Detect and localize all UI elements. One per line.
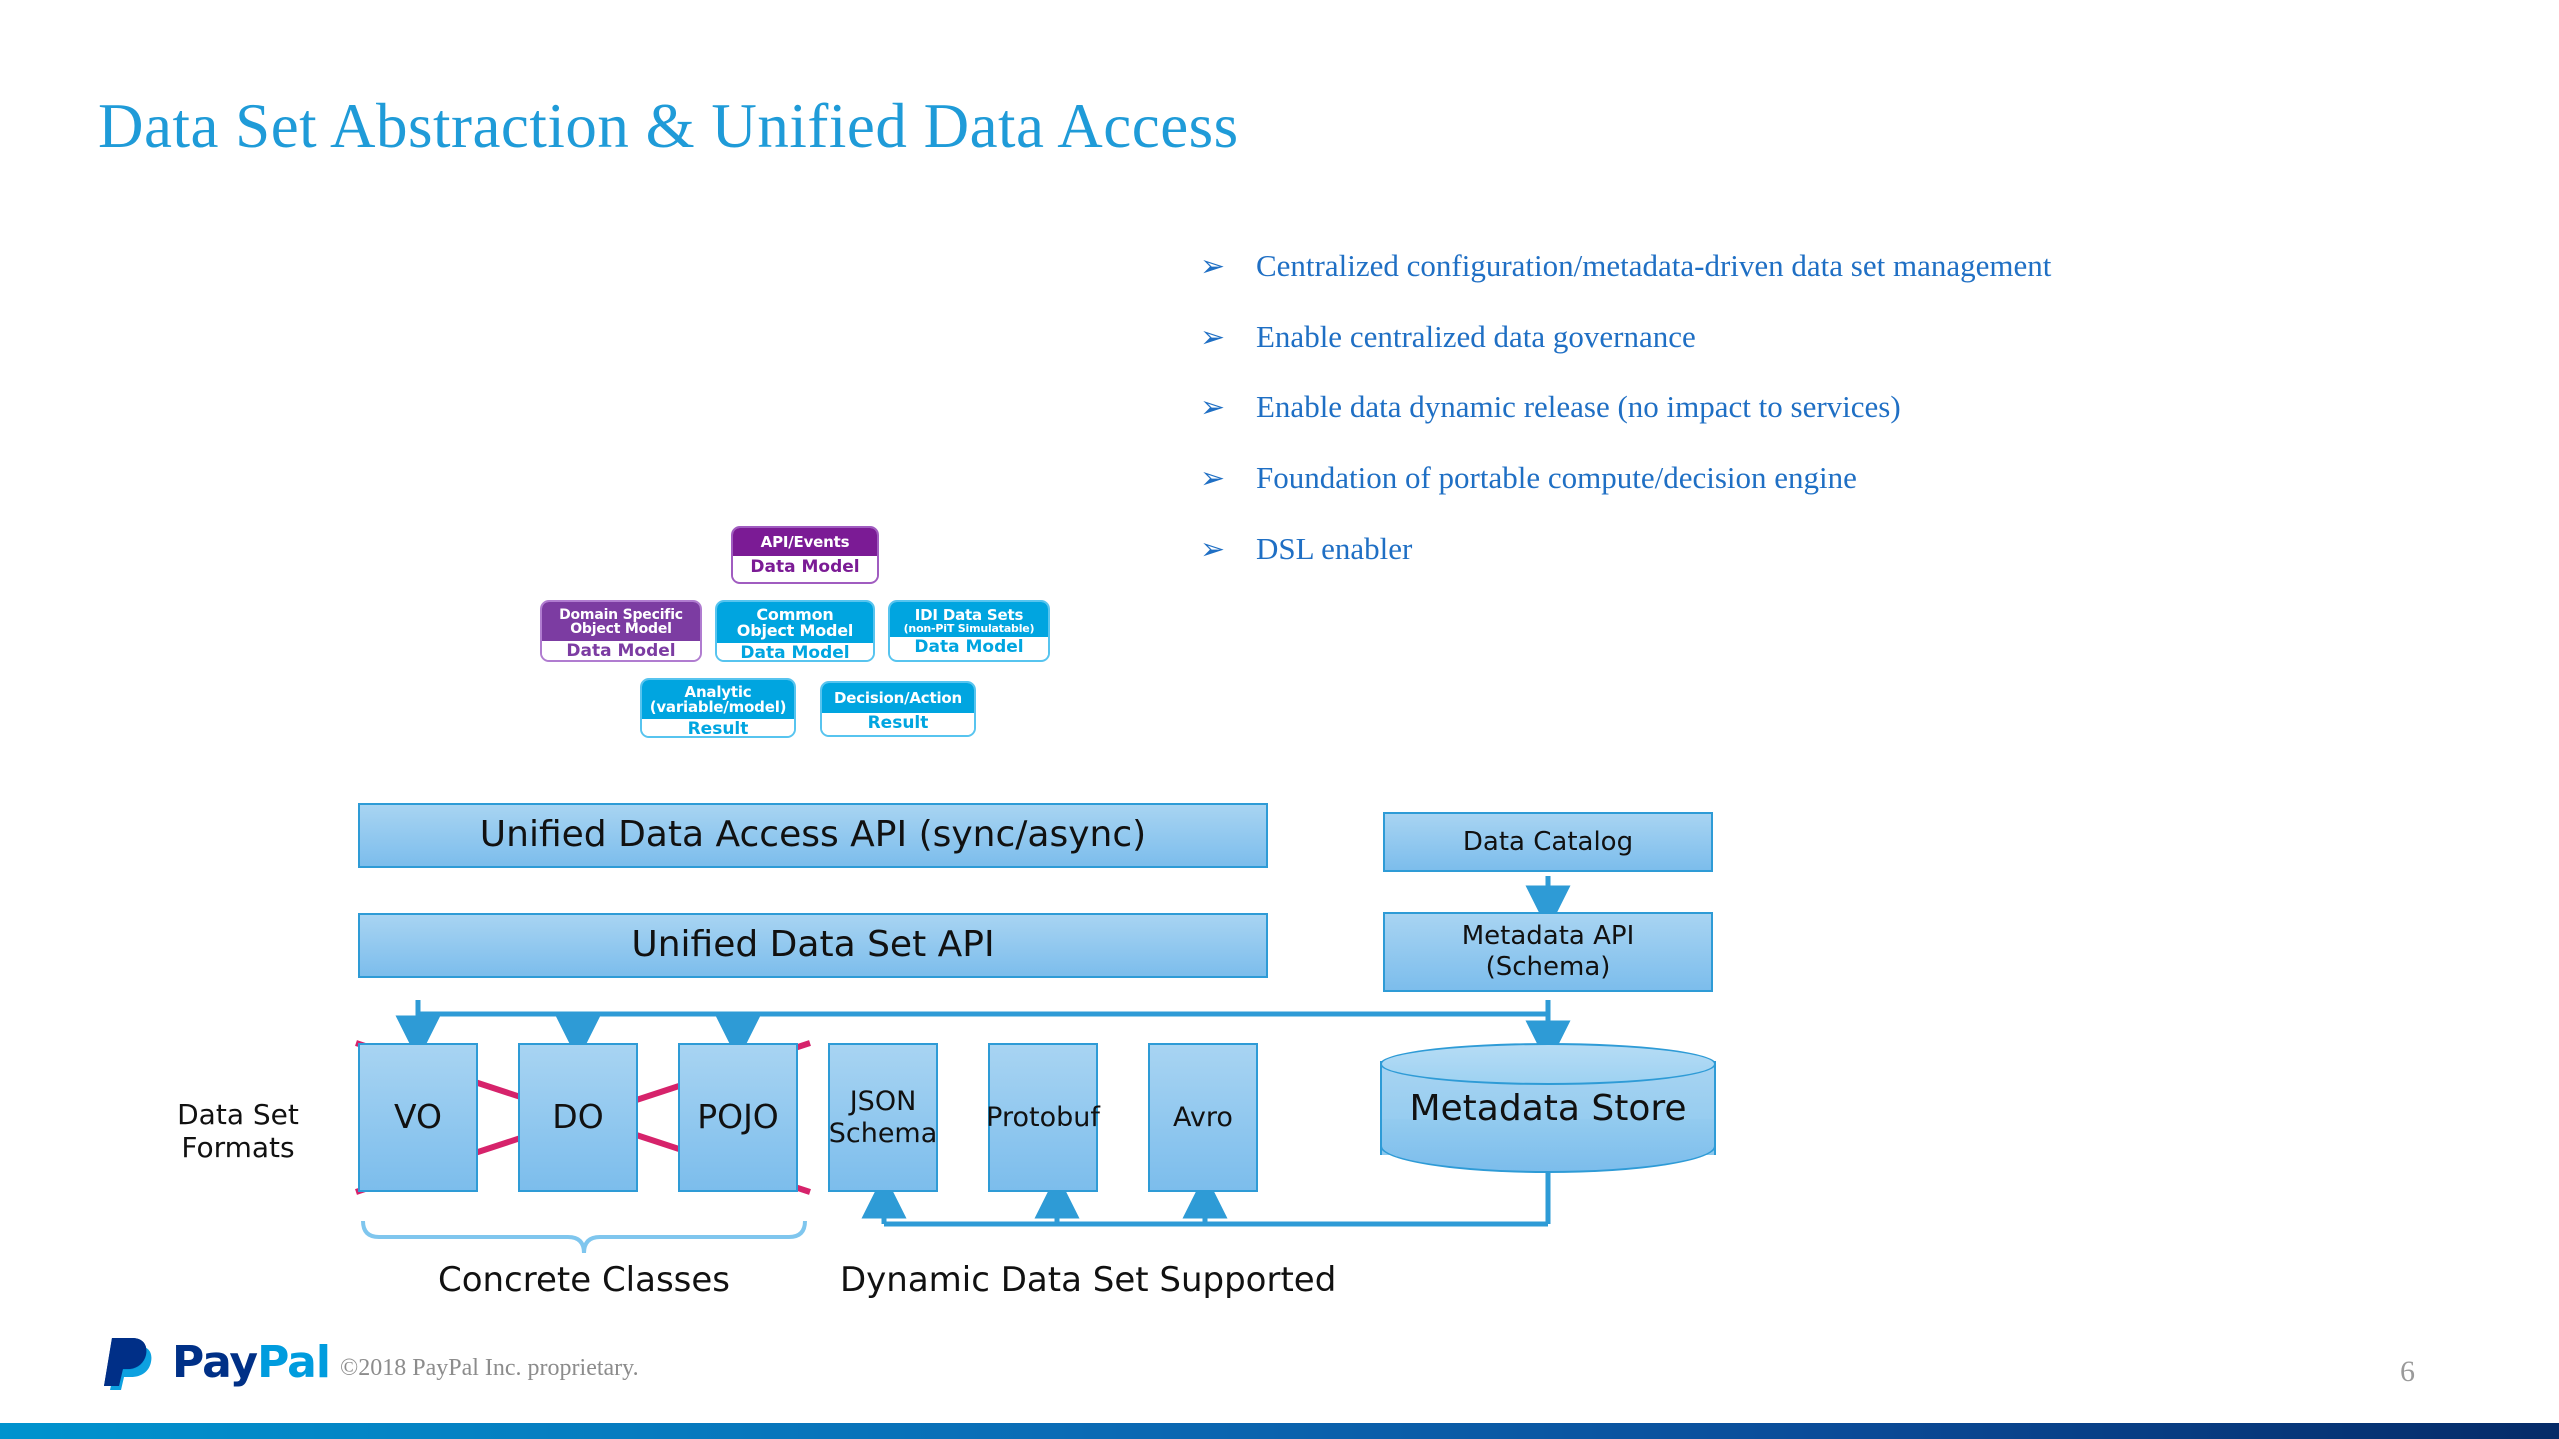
arrow-bullet-icon: ➢	[1200, 248, 1256, 282]
box-data-catalog[interactable]: Data Catalog	[1383, 812, 1713, 872]
model-box-idi-data-sets: IDI Data Sets (non-PiT Simulatable) Data…	[888, 600, 1050, 662]
box-format-avro[interactable]: Avro	[1148, 1043, 1258, 1192]
model-box-title: IDI Data Sets	[890, 608, 1048, 623]
paypal-mark-icon	[98, 1334, 160, 1390]
model-box-subtitle: Result	[868, 713, 929, 733]
box-label: Avro	[1173, 1102, 1233, 1134]
box-label: VO	[394, 1098, 442, 1137]
model-box-analytic: Analytic (variable/model) Result	[640, 678, 796, 738]
model-box-title-2: (variable/model)	[642, 700, 794, 715]
model-box-subtitle: Result	[688, 719, 749, 738]
model-box-api-events: API/Events Data Model	[731, 526, 879, 584]
paypal-wordmark: PayPal	[172, 1337, 330, 1388]
model-box-subtitle: Data Model	[914, 637, 1023, 657]
box-unified-data-set-api[interactable]: Unified Data Set API	[358, 913, 1268, 978]
data-set-formats-label: Data Set Formats	[128, 1098, 348, 1164]
model-box-title: Domain Specific	[542, 608, 700, 622]
box-label: DO	[552, 1098, 603, 1137]
list-item-label: Centralized configuration/metadata-drive…	[1256, 248, 2051, 284]
caption-concrete-classes: Concrete Classes	[363, 1260, 805, 1300]
bullet-list: ➢ Centralized configuration/metadata-dri…	[1200, 248, 2400, 601]
box-format-json-schema[interactable]: JSON Schema	[828, 1043, 938, 1192]
arrow-bullet-icon: ➢	[1200, 389, 1256, 423]
page-title: Data Set Abstraction & Unified Data Acce…	[98, 90, 1239, 163]
arrow-bullet-icon: ➢	[1200, 460, 1256, 494]
list-item-label: Enable data dynamic release (no impact t…	[1256, 389, 1901, 425]
model-box-subtitle: Data Model	[566, 641, 675, 661]
box-format-do[interactable]: DO	[518, 1043, 638, 1192]
copyright-text: ©2018 PayPal Inc. proprietary.	[340, 1355, 639, 1382]
list-item-label: DSL enabler	[1256, 531, 1412, 567]
list-item: ➢ Enable data dynamic release (no impact…	[1200, 389, 2400, 425]
model-box-title-2: (non-PiT Simulatable)	[890, 623, 1048, 634]
model-box-title-2: Object Model	[717, 623, 873, 639]
model-box-title: API/Events	[761, 533, 850, 551]
box-label-line2: Schema	[829, 1118, 938, 1150]
model-box-subtitle: Data Model	[740, 643, 849, 662]
box-label-line1: JSON	[850, 1086, 917, 1118]
list-item: ➢ Centralized configuration/metadata-dri…	[1200, 248, 2400, 284]
box-format-protobuf[interactable]: Protobuf	[988, 1043, 1098, 1192]
box-unified-data-access-api[interactable]: Unified Data Access API (sync/async)	[358, 803, 1268, 868]
model-box-title: Decision/Action	[834, 689, 962, 707]
box-label: Unified Data Access API (sync/async)	[480, 814, 1146, 856]
data-model-overview-diagram: API/Events Data Model Domain Specific Ob…	[540, 526, 1100, 756]
footer-accent-bar	[0, 1423, 2559, 1439]
box-label: Data Catalog	[1463, 827, 1633, 858]
box-label: Metadata Store	[1380, 1043, 1716, 1173]
model-box-decision-action: Decision/Action Result	[820, 681, 976, 737]
list-item-label: Enable centralized data governance	[1256, 319, 1696, 355]
brace-concrete-classes	[363, 1221, 805, 1253]
model-box-domain-specific: Domain Specific Object Model Data Model	[540, 600, 702, 662]
paypal-logo: PayPal	[98, 1334, 330, 1390]
page-number: 6	[2400, 1355, 2415, 1389]
model-box-common-object-model: Common Object Model Data Model	[715, 600, 875, 662]
list-item: ➢ Foundation of portable compute/decisio…	[1200, 460, 2400, 496]
arrow-bullet-icon: ➢	[1200, 531, 1256, 565]
box-metadata-store[interactable]: Metadata Store	[1380, 1043, 1716, 1173]
box-label-line2: (Schema)	[1486, 952, 1611, 983]
arrow-bullet-icon: ➢	[1200, 319, 1256, 353]
box-format-pojo[interactable]: POJO	[678, 1043, 798, 1192]
list-item: ➢ Enable centralized data governance	[1200, 319, 2400, 355]
model-box-subtitle: Data Model	[750, 557, 859, 577]
box-label: POJO	[697, 1098, 779, 1137]
box-format-vo[interactable]: VO	[358, 1043, 478, 1192]
box-label-line1: Metadata API	[1462, 921, 1635, 952]
list-item: ➢ DSL enabler	[1200, 531, 2400, 567]
box-metadata-api[interactable]: Metadata API (Schema)	[1383, 912, 1713, 992]
model-box-title-2: Object Model	[542, 622, 700, 636]
box-label: Protobuf	[986, 1102, 1100, 1134]
box-label: Unified Data Set API	[631, 924, 994, 966]
caption-dynamic-data-set: Dynamic Data Set Supported	[840, 1260, 1280, 1300]
architecture-connectors	[0, 0, 2559, 1439]
list-item-label: Foundation of portable compute/decision …	[1256, 460, 1857, 496]
